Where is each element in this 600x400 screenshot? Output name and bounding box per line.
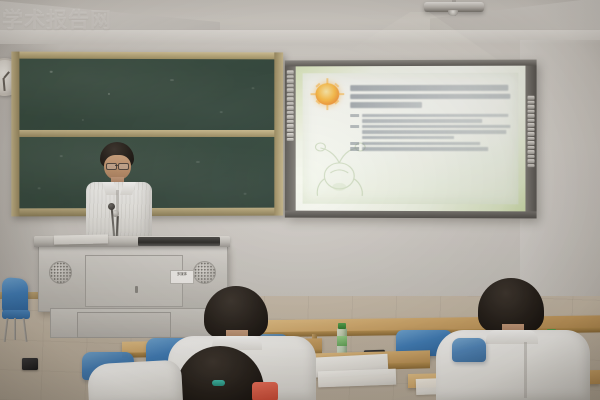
whiteboard-frame-top [285, 60, 537, 67]
slide-body-line [362, 147, 488, 150]
lectern-plinth-door[interactable] [77, 312, 171, 338]
student-red-collar [252, 382, 278, 400]
glasses-icon [118, 163, 129, 170]
slide-bullet-row [350, 147, 512, 150]
whiteboard-tool-button[interactable] [527, 96, 534, 100]
blackboard-upper-panel [19, 59, 274, 130]
whiteboard-tool-button[interactable] [527, 146, 534, 150]
whiteboard-tool-button[interactable] [287, 106, 294, 109]
slide-body-line [362, 119, 482, 122]
bottle-cap-center [338, 323, 346, 329]
interactive-whiteboard[interactable] [285, 60, 537, 219]
sun-icon [315, 83, 339, 105]
speaker-grille-left [49, 261, 72, 284]
whiteboard-tool-button[interactable] [527, 159, 534, 163]
slide-heading-line [350, 102, 422, 108]
whiteboard-tool-button[interactable] [287, 102, 294, 105]
lectern-label: 多媒体 [170, 270, 194, 284]
whiteboard-tool-button[interactable] [527, 136, 534, 140]
projected-slide [296, 66, 526, 212]
whiteboard-tool-button[interactable] [527, 114, 534, 118]
slide-body-line [362, 142, 480, 145]
blackboard-divider-rail [19, 130, 274, 137]
slide-bullet-row [350, 136, 512, 139]
whiteboard-tool-button[interactable] [287, 120, 294, 123]
slide-bullet-row [350, 125, 512, 128]
slide-content-area [303, 73, 519, 205]
whiteboard-tool-button[interactable] [527, 109, 534, 113]
whiteboard-tool-strip-left[interactable] [287, 66, 294, 141]
slide-bullet-row [350, 114, 512, 117]
whiteboard-tool-button[interactable] [287, 70, 294, 74]
slide-bullet-row [350, 130, 512, 133]
hair-clip-icon [212, 380, 225, 386]
speaker-grille-right [193, 261, 216, 284]
whiteboard-tool-button[interactable] [287, 138, 294, 141]
blackboard-frame-top [11, 52, 283, 60]
whiteboard-tool-button[interactable] [287, 115, 294, 118]
whiteboard-tool-button[interactable] [527, 164, 534, 168]
whiteboard-right-rail [525, 66, 536, 212]
whiteboard-tool-button[interactable] [527, 132, 534, 136]
slide-heading-line [350, 85, 508, 91]
slide-bullet-tag [350, 114, 359, 117]
whiteboard-tool-button[interactable] [287, 133, 294, 136]
whiteboard-tool-button[interactable] [287, 129, 294, 132]
projector-lens-icon [448, 10, 458, 16]
lectern-paper [54, 234, 108, 244]
slide-body-line [362, 136, 454, 139]
whiteboard-tool-button[interactable] [527, 127, 534, 131]
chair-back-right[interactable] [452, 338, 486, 362]
blackboard-frame-left [11, 52, 19, 217]
bottle-label-center [337, 336, 347, 346]
glasses-bridge [115, 165, 118, 166]
classroom-photo: 多媒体 [0, 0, 600, 400]
whiteboard-tool-button[interactable] [527, 100, 534, 104]
slide-body-line [362, 125, 510, 128]
slide-bullet-tag [350, 147, 359, 150]
lectern-microphone-icon [108, 203, 115, 210]
whiteboard-tool-button[interactable] [527, 118, 534, 122]
whiteboard-tool-button[interactable] [287, 111, 294, 114]
student-far-left-partial [88, 356, 178, 400]
student-shirt [87, 360, 183, 400]
presenter [80, 142, 158, 242]
whiteboard-tool-button[interactable] [287, 88, 294, 91]
lectern-door-handle[interactable] [135, 286, 138, 293]
slide-text-block [350, 85, 512, 153]
whiteboard-tool-button[interactable] [287, 75, 294, 79]
slide-body-line [362, 114, 508, 117]
whiteboard-tool-button[interactable] [287, 93, 294, 96]
small-device-left[interactable] [22, 358, 38, 370]
whiteboard-tool-button[interactable] [527, 150, 534, 154]
slide-bullet-tag [350, 142, 359, 145]
whiteboard-tool-button[interactable] [527, 141, 534, 145]
slide-bullet-row [350, 119, 512, 122]
lectern-cabinet-door[interactable]: 多媒体 [85, 255, 183, 307]
slide-bullet-row [350, 142, 512, 145]
student-collar [486, 330, 538, 344]
whiteboard-tool-button[interactable] [527, 155, 534, 159]
slide-bullet-tag [350, 125, 359, 128]
clock-minute-hand [3, 78, 6, 91]
whiteboard-tool-button[interactable] [287, 97, 294, 100]
whiteboard-left-rail [285, 66, 296, 210]
student-shirt-placket [524, 342, 527, 398]
whiteboard-frame-bottom [285, 211, 537, 219]
blackboard-frame-right [274, 52, 283, 215]
whiteboard-tool-strip-right[interactable] [527, 92, 534, 167]
slide-body-line [362, 130, 506, 133]
blue-stacking-chair-left[interactable] [2, 278, 36, 340]
whiteboard-tool-button[interactable] [287, 84, 294, 87]
student-longhair [176, 346, 264, 400]
lectern-monitor-well [138, 237, 220, 246]
whiteboard-tool-button[interactable] [287, 124, 294, 127]
slide-heading-line [350, 93, 510, 99]
whiteboard-tool-button[interactable] [287, 79, 294, 82]
whiteboard-tool-button[interactable] [527, 123, 534, 127]
whiteboard-tool-button[interactable] [527, 105, 534, 109]
paper-stack-center-2[interactable] [318, 369, 397, 388]
